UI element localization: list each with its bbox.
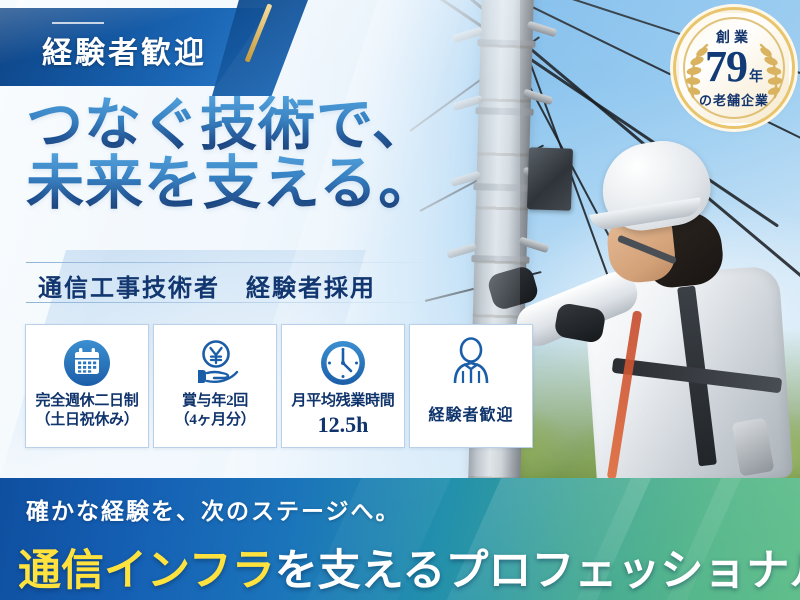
feature-label-line2: （4ヶ月分）: [175, 411, 256, 430]
headline-line-1: つなぐ技術で、: [26, 96, 446, 156]
feature-label-line2: （土日祝休み）: [36, 411, 139, 430]
subtitle: 通信工事技術者 経験者採用: [38, 268, 376, 303]
person-icon: [446, 336, 496, 390]
footer-main-part2: を支えるプロフェッショナルを: [275, 548, 800, 595]
calendar-icon: [62, 336, 112, 390]
subtitle-rule-bottom: [26, 302, 422, 303]
feature-label-line1: 賞与年2回: [182, 392, 248, 411]
footer-main-text: 通信インフラを支えるプロフェッショナルを募集: [18, 528, 800, 600]
footer-main-part1: 通信インフラ: [18, 548, 275, 595]
feature-label-line2: 12.5h: [318, 411, 369, 439]
headline: つなぐ技術で、 未来を支える。: [26, 96, 446, 215]
feature-box-bonus: 賞与年2回 （4ヶ月分）: [153, 324, 277, 448]
recruitment-banner: 経験者歓迎 創業 79: [0, 0, 800, 600]
clock-icon: [318, 336, 368, 390]
feature-box-holidays: 完全週休二日制 （土日祝休み）: [25, 324, 149, 448]
footer-band: 確かな経験を、次のステージへ。 通信インフラを支えるプロフェッショナルを募集: [0, 478, 800, 600]
feature-box-list: 完全週休二日制 （土日祝休み） 賞与年2回 （4ヶ月分）: [25, 324, 533, 448]
laurel-left-icon: [685, 41, 711, 101]
feature-label-line1: 経験者歓迎: [428, 406, 513, 426]
laurel-right-icon: [757, 41, 783, 101]
footer-lead-text: 確かな経験を、次のステージへ。: [26, 492, 401, 526]
subtitle-rule-top: [26, 262, 422, 263]
hand-yen-icon: [188, 336, 242, 390]
ribbon-label: 経験者歓迎: [42, 28, 207, 72]
feature-label-line1: 月平均残業時間: [292, 392, 395, 411]
anniversary-badge: 創業 79 年 の老舗企業: [676, 10, 792, 126]
feature-box-experience: 経験者歓迎: [409, 324, 533, 448]
ribbon-dash-line: [52, 22, 104, 24]
experience-welcome-ribbon: 経験者歓迎: [0, 8, 300, 86]
feature-label-line1: 完全週休二日制: [36, 392, 139, 411]
headline-line-2: 未来を支える。: [26, 153, 446, 214]
feature-box-overtime: 月平均残業時間 12.5h: [281, 324, 405, 448]
